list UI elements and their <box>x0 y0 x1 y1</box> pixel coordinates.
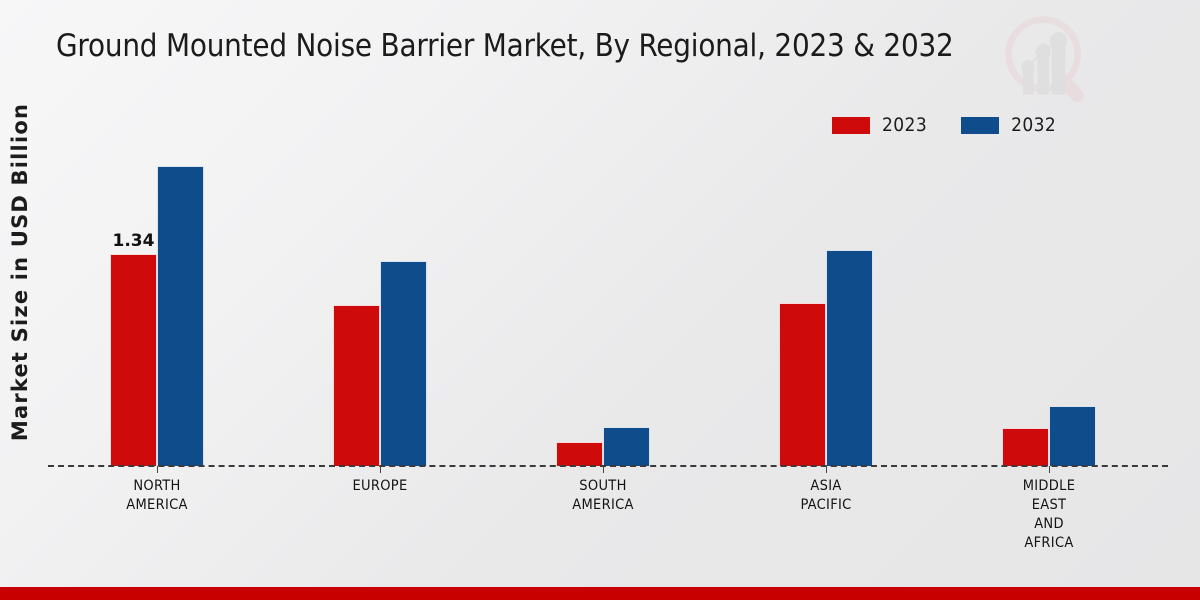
x-axis-tick-middle-east-and-africa <box>1049 466 1050 473</box>
footer-accent-bar <box>0 587 1200 600</box>
x-axis-label-line: ASIA <box>726 477 926 496</box>
x-axis-label-line: AMERICA <box>57 496 257 515</box>
bar-group-north-america: 1.34 <box>110 166 204 466</box>
x-axis-label-line: NORTH <box>57 477 257 496</box>
x-axis-label-line: PACIFIC <box>726 496 926 515</box>
chart-title: Ground Mounted Noise Barrier Market, By … <box>56 28 1086 64</box>
chart-legend: 2023 2032 <box>832 114 1056 136</box>
bar-group-south-america <box>556 427 650 467</box>
x-axis-label-line: AND <box>949 515 1149 534</box>
legend-swatch-2023 <box>832 117 870 134</box>
x-axis-label-europe: EUROPE <box>280 477 480 496</box>
bar-group-europe <box>333 261 427 466</box>
bar-value-label-north-america-2023: 1.34 <box>113 231 155 251</box>
bar-north-america-2032[interactable] <box>157 166 204 466</box>
bar-asia-pacific-2032[interactable] <box>826 250 873 466</box>
x-axis-label-line: AMERICA <box>503 496 703 515</box>
x-axis-label-middle-east-and-africa: MIDDLEEASTANDAFRICA <box>949 477 1149 553</box>
bar-group-asia-pacific <box>779 250 873 466</box>
bar-asia-pacific-2023[interactable] <box>779 303 826 466</box>
x-axis-label-line: EUROPE <box>280 477 480 496</box>
x-axis-tick-north-america <box>157 466 158 473</box>
x-axis-tick-south-america <box>603 466 604 473</box>
x-axis-label-line: MIDDLE <box>949 477 1149 496</box>
legend-label-2023: 2023 <box>882 114 927 136</box>
x-axis-tick-asia-pacific <box>826 466 827 473</box>
bar-europe-2032[interactable] <box>380 261 427 466</box>
bar-south-america-2023[interactable] <box>556 442 603 466</box>
y-axis-title-text: Market Size in USD Billion <box>8 103 32 441</box>
bar-middle-east-and-africa-2023[interactable] <box>1002 428 1049 466</box>
x-axis-label-south-america: SOUTHAMERICA <box>503 477 703 515</box>
bar-europe-2023[interactable] <box>333 305 380 466</box>
bar-south-america-2032[interactable] <box>603 427 650 467</box>
x-axis-baseline <box>48 465 1168 467</box>
y-axis-title: Market Size in USD Billion <box>2 86 38 458</box>
legend-item-2023[interactable]: 2023 <box>832 114 927 136</box>
chart-canvas: Ground Mounted Noise Barrier Market, By … <box>0 0 1200 600</box>
x-axis-label-north-america: NORTHAMERICA <box>57 477 257 515</box>
x-axis-label-line: AFRICA <box>949 534 1149 553</box>
bar-middle-east-and-africa-2032[interactable] <box>1049 406 1096 466</box>
legend-item-2032[interactable]: 2032 <box>961 114 1056 136</box>
x-axis-tick-europe <box>380 466 381 473</box>
plot-area: 1.34 <box>48 150 1168 466</box>
x-axis-label-line: EAST <box>949 496 1149 515</box>
x-axis-label-line: SOUTH <box>503 477 703 496</box>
bar-group-middle-east-and-africa <box>1002 406 1096 466</box>
legend-label-2032: 2032 <box>1011 114 1056 136</box>
bar-north-america-2023[interactable]: 1.34 <box>110 254 157 466</box>
x-axis-label-asia-pacific: ASIAPACIFIC <box>726 477 926 515</box>
legend-swatch-2032 <box>961 117 999 134</box>
